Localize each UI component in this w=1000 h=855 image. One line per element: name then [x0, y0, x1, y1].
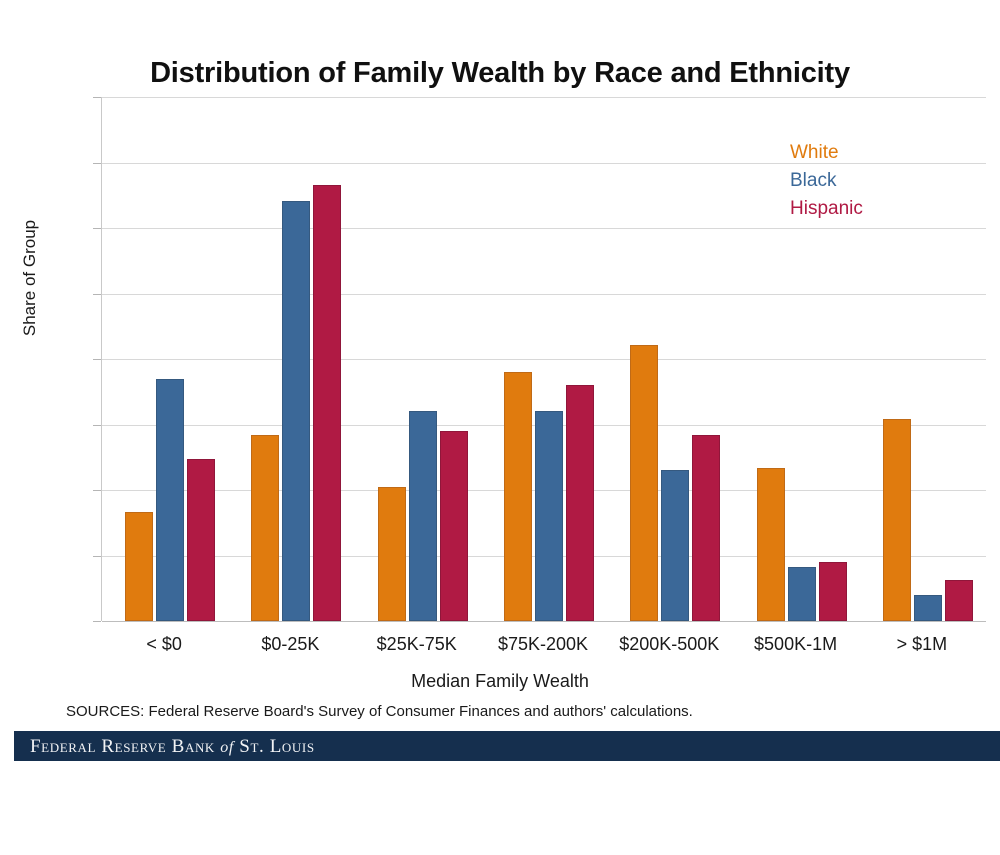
bar-black-5[interactable]	[788, 567, 816, 621]
bar-white-5[interactable]	[757, 468, 785, 621]
x-axis-title: Median Family Wealth	[0, 671, 1000, 692]
bar-hispanic-1[interactable]	[313, 185, 341, 621]
brand-connector: of	[220, 739, 234, 756]
bar-white-1[interactable]	[251, 435, 279, 621]
bar-hispanic-2[interactable]	[440, 431, 468, 621]
y-tick-mark	[93, 621, 101, 622]
bar-white-0[interactable]	[125, 512, 153, 621]
bar-black-2[interactable]	[409, 411, 437, 621]
bar-white-2[interactable]	[378, 487, 406, 621]
y-tick-mark	[93, 228, 101, 229]
bar-group	[606, 97, 732, 621]
chart-page: Distribution of Family Wealth by Race an…	[0, 0, 1000, 855]
legend: White Black Hispanic	[790, 139, 970, 223]
bar-group	[227, 97, 353, 621]
bar-hispanic-4[interactable]	[692, 435, 720, 621]
bar-black-6[interactable]	[914, 595, 942, 621]
y-tick-mark	[93, 556, 101, 557]
bar-black-3[interactable]	[535, 411, 563, 621]
legend-entry-black[interactable]: Black	[790, 167, 970, 195]
bar-hispanic-3[interactable]	[566, 385, 594, 621]
chart-title: Distribution of Family Wealth by Race an…	[0, 57, 1000, 90]
legend-entry-hispanic[interactable]: Hispanic	[790, 195, 970, 223]
y-tick-mark	[93, 359, 101, 360]
y-tick-mark	[93, 490, 101, 491]
gridline	[102, 621, 986, 622]
y-axis-title: Share of Group	[20, 178, 40, 378]
brand-prefix: Federal Reserve Bank	[30, 736, 215, 757]
bar-black-4[interactable]	[661, 470, 689, 621]
bar-white-6[interactable]	[883, 419, 911, 621]
y-tick-mark	[93, 97, 101, 98]
legend-entry-white[interactable]: White	[790, 139, 970, 167]
bar-hispanic-6[interactable]	[945, 580, 973, 621]
y-tick-mark	[93, 163, 101, 164]
brand-suffix: St. Louis	[239, 736, 314, 757]
brand-text: Federal Reserve Bank of St. Louis	[30, 736, 315, 758]
bar-hispanic-5[interactable]	[819, 562, 847, 621]
bar-black-1[interactable]	[282, 201, 310, 622]
bar-white-4[interactable]	[630, 345, 658, 621]
bar-white-3[interactable]	[504, 372, 532, 621]
bar-hispanic-0[interactable]	[187, 459, 215, 621]
bar-group	[480, 97, 606, 621]
bar-group	[354, 97, 480, 621]
bar-black-0[interactable]	[156, 379, 184, 621]
source-note: SOURCES: Federal Reserve Board's Survey …	[66, 703, 693, 720]
y-tick-mark	[93, 425, 101, 426]
bar-group	[101, 97, 227, 621]
y-tick-mark	[93, 294, 101, 295]
x-tick-label: > $1M	[837, 634, 1000, 655]
